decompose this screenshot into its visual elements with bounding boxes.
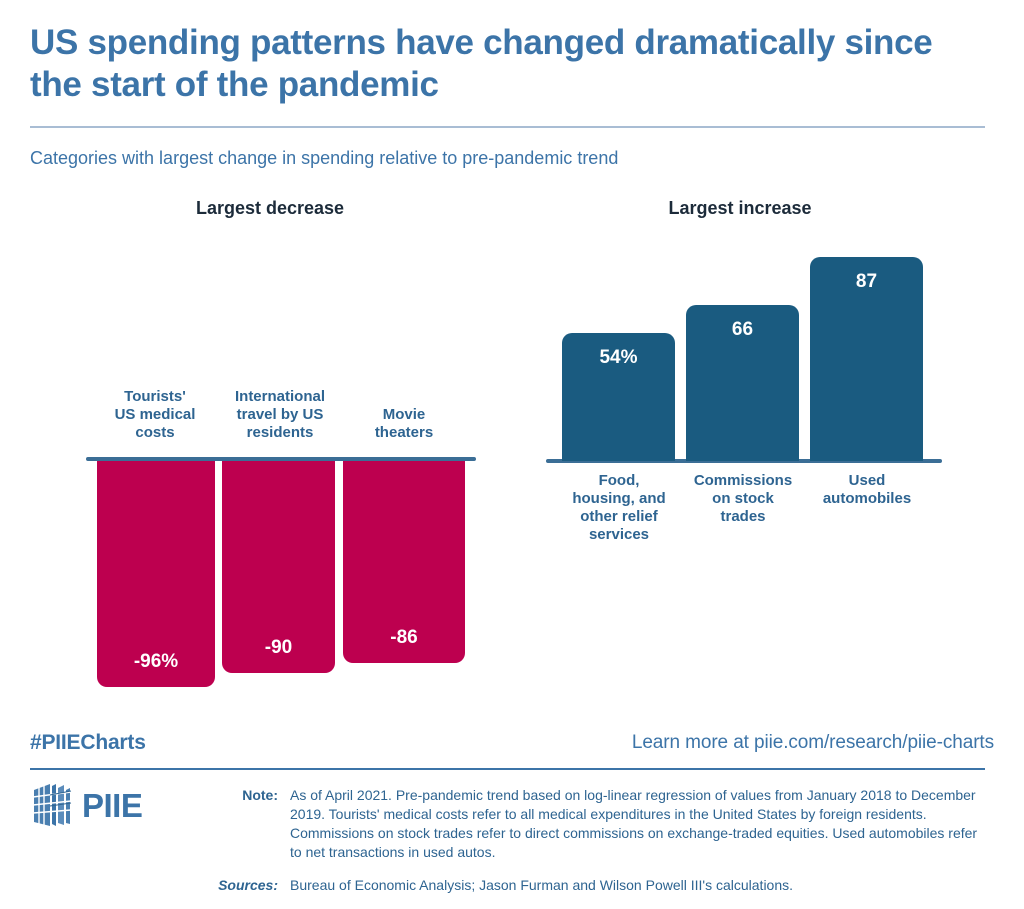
category-label-line: housing, and (558, 490, 680, 508)
bar-commissions-on-stock-trades[interactable]: 66 (686, 305, 799, 461)
category-label-line: services (558, 526, 680, 544)
footnotes: Note: As of April 2021. Pre-pandemic tre… (210, 786, 985, 909)
bar-value-label: 54% (562, 347, 675, 369)
piie-logo: PIIE (30, 780, 142, 830)
category-label-line: Commissions (682, 472, 804, 490)
category-label-line: theaters (345, 424, 463, 442)
category-label-line: Tourists' (96, 388, 214, 406)
sources-row: Sources: Bureau of Economic Analysis; Ja… (210, 876, 985, 895)
bar-value-label: -90 (222, 637, 335, 659)
bar-food-housing-and-other-relief-services[interactable]: 54% (562, 333, 675, 461)
bar-tourists-us-medical-costs[interactable]: -96% (97, 461, 215, 687)
note-row: Note: As of April 2021. Pre-pandemic tre… (210, 786, 985, 862)
category-label-commissions-on-stock-trades: Commissions on stock trades (682, 472, 804, 526)
piie-building-icon (30, 780, 74, 830)
category-label-tourists-us-medical-costs: Tourists' US medical costs (96, 388, 214, 442)
category-label-line: on stock (682, 490, 804, 508)
bar-value-label: -86 (343, 627, 465, 649)
category-label-line: Movie (345, 406, 463, 424)
panel-heading-decrease: Largest decrease (128, 198, 412, 219)
category-label-line: travel by US (221, 406, 339, 424)
panel-heading-increase: Largest increase (598, 198, 882, 219)
category-label-line: other relief (558, 508, 680, 526)
bar-value-label: 87 (810, 271, 923, 293)
category-label-line: automobiles (806, 490, 928, 508)
bar-international-travel-by-us-residents[interactable]: -90 (222, 461, 335, 673)
bar-value-label: -96% (97, 651, 215, 673)
category-label-food-housing-and-other-relief-services: Food, housing, and other relief services (558, 472, 680, 544)
bar-used-automobiles[interactable]: 87 (810, 257, 923, 461)
category-label-international-travel-by-us-residents: International travel by US residents (221, 388, 339, 442)
piie-wordmark: PIIE (82, 789, 142, 822)
category-label-line: US medical (96, 406, 214, 424)
footer-divider (30, 768, 985, 770)
chart-page: US spending patterns have changed dramat… (0, 0, 1024, 909)
category-label-line: costs (96, 424, 214, 442)
hashtag-label: #PIIECharts (30, 731, 146, 755)
note-label: Note: (210, 786, 290, 805)
category-label-used-automobiles: Used automobiles (806, 472, 928, 508)
bar-movie-theaters[interactable]: -86 (343, 461, 465, 663)
note-text: As of April 2021. Pre-pandemic trend bas… (290, 786, 985, 862)
sources-text: Bureau of Economic Analysis; Jason Furma… (290, 876, 985, 895)
page-subtitle: Categories with largest change in spendi… (30, 148, 618, 169)
header-divider (30, 126, 985, 128)
category-label-line: Food, (558, 472, 680, 490)
category-label-line: trades (682, 508, 804, 526)
bar-value-label: 66 (686, 319, 799, 341)
category-label-line: residents (221, 424, 339, 442)
category-label-line: Used (806, 472, 928, 490)
category-label-movie-theaters: Movie theaters (345, 406, 463, 442)
category-label-line: International (221, 388, 339, 406)
page-title: US spending patterns have changed dramat… (30, 22, 990, 106)
sources-label: Sources: (210, 876, 290, 895)
learn-more-link[interactable]: Learn more at piie.com/research/piie-cha… (632, 732, 994, 754)
